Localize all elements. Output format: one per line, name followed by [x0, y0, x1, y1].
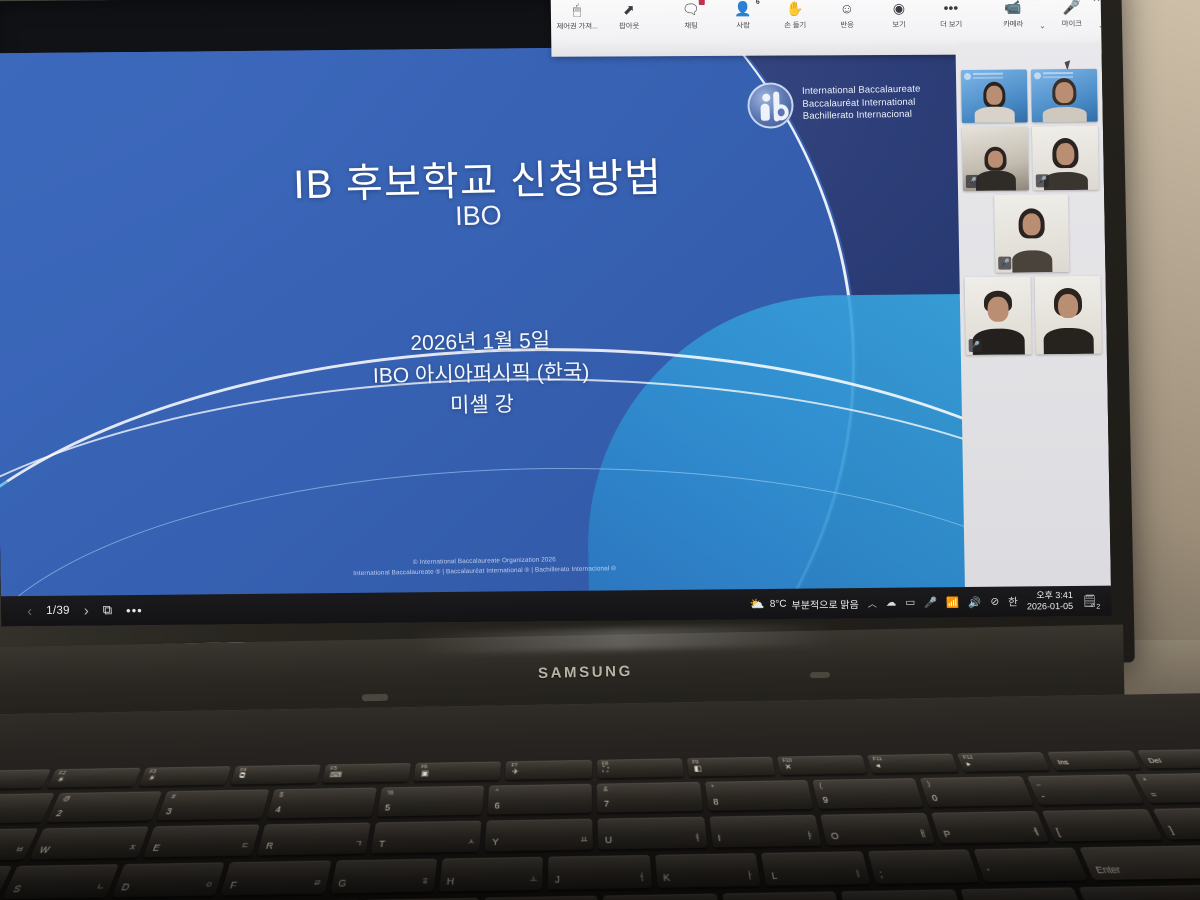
- ib-logo-line-es: Bachillerato Internacional: [802, 109, 921, 124]
- key--[interactable]: F11◂: [867, 754, 959, 774]
- key-del[interactable]: Del: [1137, 749, 1200, 769]
- toolbar-left-group: 🖱 제어권 가져... ⬈ 팝아웃: [551, 0, 655, 32]
- ib-roundel-icon: [746, 82, 793, 129]
- pop-out-icon: ⬈: [623, 0, 635, 17]
- key-l[interactable]: Lㅣ: [761, 851, 870, 886]
- shared-powerpoint-slide: International Baccalaureate Baccalauréat…: [0, 44, 969, 598]
- bezel-nub-left: [362, 694, 388, 702]
- more-options-button[interactable]: ••• 더 보기: [925, 0, 977, 30]
- key-o[interactable]: Oㅐ: [820, 813, 935, 846]
- window-more-icon[interactable]: ···: [1027, 0, 1037, 5]
- toolbar-center-group: 🗨 채팅 👤 6 사람 ✋ 손 들기 ☺ 반응: [665, 0, 977, 31]
- key-k[interactable]: Kㅏ: [655, 853, 761, 888]
- weather-temperature: 8°C: [770, 598, 787, 609]
- display-icon[interactable]: ▭: [905, 597, 915, 609]
- key--[interactable]: F4⧉: [231, 765, 322, 785]
- key--[interactable]: F1⊕: [0, 769, 51, 789]
- participant-tile-3[interactable]: 🎤: [962, 126, 1029, 191]
- window-maximize-icon[interactable]: □: [1073, 0, 1079, 5]
- raise-hand-label: 손 들기: [784, 20, 806, 31]
- key-r[interactable]: Rㄱ: [257, 823, 371, 856]
- samsung-laptop: International Baccalaureate Baccalauréat…: [0, 0, 1172, 900]
- tray-time: 오후 3:41: [1027, 590, 1073, 601]
- key-m[interactable]: Mㅡ: [603, 894, 721, 900]
- weather-widget[interactable]: ⛅ 8°C 부분적으로 맑음: [750, 596, 859, 612]
- bezel-nub-right: [810, 672, 830, 678]
- participant-tile-7[interactable]: [1035, 276, 1102, 355]
- key--[interactable]: F9◧: [687, 757, 776, 777]
- participant-video-rail[interactable]: 🎤 🎤 🎤: [955, 43, 1111, 589]
- key-w[interactable]: Wㅈ: [29, 826, 149, 859]
- key-6[interactable]: ^6: [488, 784, 593, 815]
- key--[interactable]: .: [841, 889, 966, 900]
- pop-out-label: 팝아웃: [619, 21, 639, 32]
- view-label: 보기: [892, 19, 906, 30]
- key-s[interactable]: Sㄴ: [2, 864, 118, 899]
- window-controls[interactable]: ··· — □ ✕: [1027, 0, 1101, 5]
- raise-hand-icon: ✋: [786, 0, 804, 17]
- participant-row-2: 🎤 🎤: [962, 126, 1099, 191]
- more-icon: •••: [943, 0, 958, 16]
- more-label: 더 보기: [940, 19, 962, 30]
- participant-tile-1[interactable]: [961, 69, 1028, 123]
- block-icon[interactable]: ⊘: [990, 596, 999, 608]
- laptop-keyboard[interactable]: F1⊕F2☀F3☀F4⧉F5⌨F6▣F7✈F8⛶F9◧F10✕F11◂F12▸I…: [0, 749, 1200, 900]
- key-i[interactable]: Iㅑ: [709, 815, 821, 848]
- key-d[interactable]: Dㅇ: [112, 862, 225, 897]
- raise-hand-button[interactable]: ✋ 손 들기: [769, 0, 821, 31]
- mic-label: 마이크: [1062, 18, 1082, 29]
- slide-counter: 1/39: [46, 605, 70, 617]
- key--[interactable]: +=: [1134, 773, 1200, 803]
- ime-indicator[interactable]: 한: [1008, 594, 1018, 609]
- key-h[interactable]: Hㅗ: [439, 857, 543, 892]
- ib-logo: International Baccalaureate Baccalauréat…: [746, 80, 921, 129]
- key-t[interactable]: Tㅅ: [371, 821, 482, 854]
- key-8[interactable]: *8: [705, 780, 814, 811]
- key-y[interactable]: Yㅛ: [485, 819, 593, 852]
- key-n[interactable]: Nㅜ: [482, 896, 599, 900]
- chat-label: 채팅: [684, 20, 698, 31]
- chat-icon: 🗨: [682, 0, 700, 17]
- participant-tile-6[interactable]: 🎤: [965, 276, 1032, 355]
- camera-icon: 📹: [1004, 0, 1022, 15]
- slide-grid-view-icon[interactable]: ⧉: [103, 602, 113, 618]
- key--[interactable]: F10✕: [777, 755, 867, 775]
- notification-count: 2: [1096, 604, 1100, 611]
- slide-navigation[interactable]: ‹ 1/39 › ⧉ •••: [1, 601, 143, 619]
- tray-date: 2026-01-05: [1027, 601, 1073, 612]
- next-slide-button[interactable]: ›: [84, 602, 89, 619]
- key-ins[interactable]: Ins: [1047, 750, 1142, 770]
- key--[interactable]: F12▸: [957, 752, 1050, 772]
- key--[interactable]: F2☀: [47, 768, 141, 788]
- key--[interactable]: ': [973, 848, 1088, 883]
- view-icon: ◉: [893, 0, 905, 16]
- mute-indicator-icon: 🎤: [1036, 174, 1049, 187]
- people-label: 사람: [736, 20, 750, 31]
- people-count-badge: 6: [756, 0, 760, 6]
- key-4[interactable]: $4: [267, 788, 377, 819]
- key-5[interactable]: %5: [377, 786, 484, 817]
- participant-row-3: 🎤: [963, 194, 1100, 273]
- window-close-icon[interactable]: ✕: [1092, 0, 1101, 5]
- key-j[interactable]: Jㅓ: [548, 855, 652, 890]
- participant-tile-4[interactable]: 🎤: [1032, 126, 1099, 191]
- mute-indicator-icon: 🎤: [966, 175, 979, 188]
- key-f[interactable]: Fㄹ: [221, 860, 331, 895]
- key-enter[interactable]: Enter: [1079, 844, 1200, 880]
- camera-label: 카메라: [1003, 19, 1023, 30]
- key-shift[interactable]: Shift: [1079, 883, 1200, 900]
- ib-logo-text: International Baccalaureate Baccalauréat…: [802, 84, 921, 124]
- volume-icon[interactable]: 🔊: [968, 595, 981, 608]
- mic-tray-icon[interactable]: 🎤: [924, 596, 937, 609]
- participant-tile-5[interactable]: 🎤: [994, 194, 1069, 273]
- slide-meta-block: 2026년 1월 5일 IBO 아시아퍼시픽 (한국) 미셸 강: [0, 317, 966, 430]
- people-icon: 👤: [734, 0, 752, 17]
- key--[interactable]: F5⌨: [322, 763, 411, 783]
- previous-slide-button[interactable]: ‹: [27, 602, 32, 619]
- window-minimize-icon[interactable]: —: [1050, 0, 1060, 5]
- key--[interactable]: F6▣: [414, 761, 502, 781]
- key--[interactable]: ;: [867, 849, 979, 884]
- give-control-icon: 🖱: [573, 1, 582, 18]
- key--[interactable]: [: [1041, 809, 1162, 841]
- samsung-brand-logo: SAMSUNG: [538, 663, 633, 682]
- participant-tile-2[interactable]: [1031, 69, 1098, 123]
- key--[interactable]: F8⛶: [597, 758, 684, 778]
- people-button[interactable]: 👤 6 사람: [717, 0, 769, 31]
- chat-button[interactable]: 🗨 채팅: [665, 0, 717, 31]
- reactions-icon: ☺: [840, 0, 855, 16]
- participant-row-1: [961, 69, 1098, 123]
- key--[interactable]: F7✈: [505, 760, 592, 780]
- tray-expand-chevron-icon[interactable]: ︿: [868, 596, 877, 609]
- key--[interactable]: F3☀: [139, 766, 231, 786]
- key-g[interactable]: Gㅎ: [330, 859, 437, 894]
- view-button[interactable]: ◉ 보기: [873, 0, 925, 30]
- sun-cloud-icon: ⛅: [750, 597, 765, 611]
- weather-condition: 부분적으로 맑음: [791, 596, 858, 612]
- clock-widget[interactable]: 오후 3:41 2026-01-05: [1027, 590, 1073, 612]
- laptop-screen: International Baccalaureate Baccalauréat…: [0, 0, 1111, 626]
- participant-row-4: 🎤: [965, 276, 1102, 355]
- key-9[interactable]: (9: [812, 778, 923, 809]
- mute-indicator-icon: 🎤: [969, 339, 982, 352]
- system-tray[interactable]: ⛅ 8°C 부분적으로 맑음 ︿ ☁ ▭ 🎤 📶 🔊 ⊘ 한 오후 3:41 2…: [750, 590, 1112, 615]
- reactions-button[interactable]: ☺ 반응: [821, 0, 873, 30]
- notification-center-icon[interactable]: 🗒2: [1082, 594, 1097, 608]
- pop-out-button[interactable]: ⬈ 팝아웃: [603, 0, 655, 31]
- key--[interactable]: ,: [722, 891, 843, 900]
- reactions-label: 반응: [840, 19, 854, 30]
- photograph-of-laptop: International Baccalaureate Baccalauréat…: [0, 0, 1200, 900]
- key-2[interactable]: @2: [47, 791, 163, 822]
- give-control-button[interactable]: 🖱 제어권 가져...: [551, 1, 603, 32]
- key-7[interactable]: &7: [597, 782, 703, 813]
- onedrive-icon[interactable]: ☁: [886, 597, 897, 609]
- key--[interactable]: /: [960, 887, 1088, 900]
- mute-indicator-icon: 🎤: [998, 257, 1011, 270]
- key--[interactable]: _-: [1027, 774, 1144, 805]
- presenter-more-icon[interactable]: •••: [126, 602, 143, 617]
- key-e[interactable]: Eㄷ: [143, 825, 260, 858]
- key-u[interactable]: Uㅕ: [598, 817, 707, 850]
- key-0[interactable]: )0: [919, 776, 1033, 807]
- wifi-icon[interactable]: 📶: [946, 596, 959, 609]
- toolbar-right-group: 📹 카메라 ⌄ 🎤 마이크 ⌄ ⬆ 공유 📞 나가기: [987, 0, 1112, 43]
- give-control-label: 제어권 가져...: [556, 21, 597, 32]
- key-3[interactable]: #3: [157, 789, 270, 820]
- key-p[interactable]: Pㅔ: [931, 811, 1049, 844]
